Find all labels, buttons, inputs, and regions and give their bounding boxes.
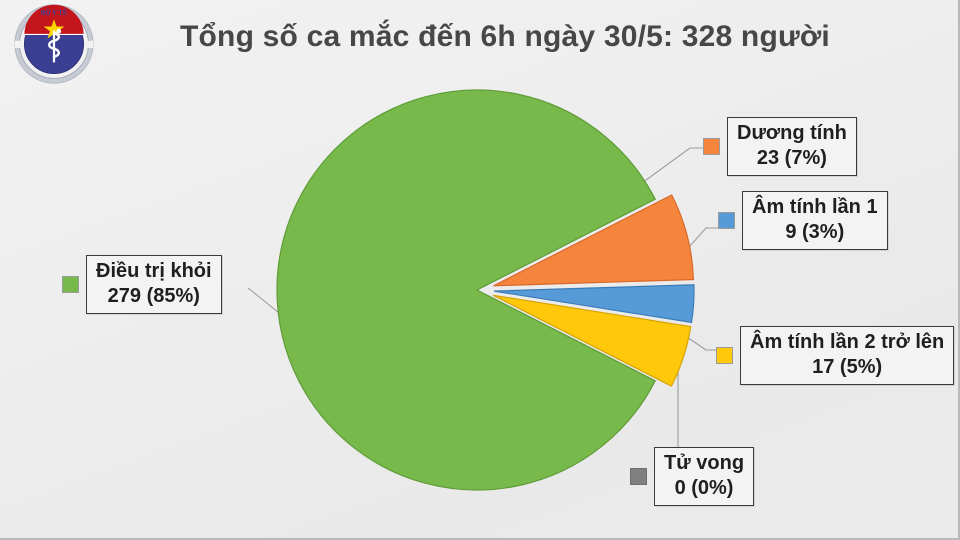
- pie-label-negative-first[interactable]: Âm tính lần 1 9 (3%): [718, 191, 888, 250]
- legend-swatch-death-icon: [630, 468, 647, 485]
- pie-label-death-value: 0 (0%): [664, 476, 744, 501]
- pie-label-negative-second-plus-box: Âm tính lần 2 trở lên 17 (5%): [740, 326, 954, 385]
- legend-swatch-negative-first-icon: [718, 212, 735, 229]
- pie-label-recovered-value: 279 (85%): [96, 284, 212, 309]
- pie-label-negative-second-plus[interactable]: Âm tính lần 2 trở lên 17 (5%): [716, 326, 954, 385]
- legend-swatch-negative-second-plus-icon: [716, 347, 733, 364]
- pie-label-negative-second-plus-title: Âm tính lần 2 trở lên: [750, 330, 944, 355]
- pie-label-death-title: Tử vong: [664, 451, 744, 476]
- pie-label-positive-title: Dương tính: [737, 121, 847, 146]
- legend-swatch-recovered-icon: [62, 276, 79, 293]
- pie-label-recovered-box: Điều trị khỏi 279 (85%): [86, 255, 222, 314]
- pie-label-negative-second-plus-value: 17 (5%): [750, 355, 944, 380]
- pie-label-positive-value: 23 (7%): [737, 146, 847, 171]
- slide-canvas: BỘ Y TẾ MINISTRY OF HEALTH Tổng số ca mắ…: [0, 0, 960, 540]
- pie-label-negative-first-value: 9 (3%): [752, 220, 878, 245]
- pie-label-recovered[interactable]: Điều trị khỏi 279 (85%): [62, 255, 222, 314]
- pie-label-negative-first-box: Âm tính lần 1 9 (3%): [742, 191, 888, 250]
- pie-label-recovered-title: Điều trị khỏi: [96, 259, 212, 284]
- legend-swatch-positive-icon: [703, 138, 720, 155]
- pie-label-positive-box: Dương tính 23 (7%): [727, 117, 857, 176]
- pie-label-death-box: Tử vong 0 (0%): [654, 447, 754, 506]
- pie-label-positive[interactable]: Dương tính 23 (7%): [703, 117, 857, 176]
- pie-label-death[interactable]: Tử vong 0 (0%): [630, 447, 754, 506]
- pie-label-negative-first-title: Âm tính lần 1: [752, 195, 878, 220]
- pie-slices: [277, 90, 694, 490]
